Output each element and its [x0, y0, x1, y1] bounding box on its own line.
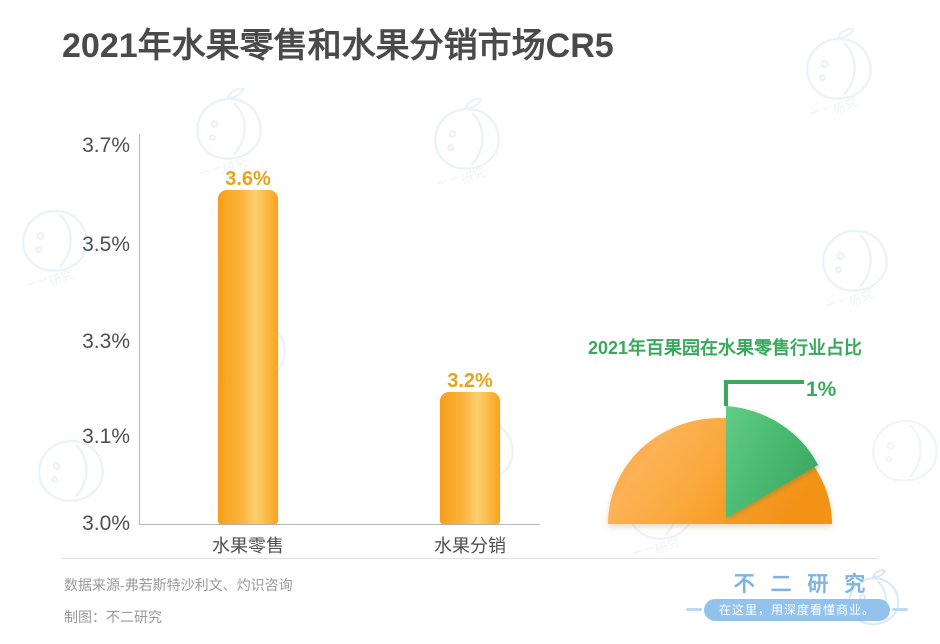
- y-axis-line: [139, 134, 140, 525]
- secondary-chart-title: 2021年百果园在水果零售行业占比: [588, 334, 862, 360]
- watermark-mark: 不二研究: [806, 210, 902, 306]
- watermark-mark: [856, 400, 940, 496]
- chart-credit-text: 制图：不二研究: [64, 607, 162, 627]
- y-tick-label: 3.7%: [50, 134, 130, 158]
- callout-value-label: 1%: [806, 378, 836, 402]
- brand-tagline: 在这里，用深度看懂商业。: [704, 599, 890, 621]
- svg-text:不二研究: 不二研究: [808, 94, 860, 114]
- logo-dash-right: [892, 608, 908, 611]
- y-tick-label: 3.0%: [50, 512, 130, 536]
- x-tick-label-fruit-distribution: 水果分销: [410, 532, 530, 558]
- chart-canvas: 不二研究 不二研究: [0, 0, 940, 644]
- bar-value-label-fruit-retail: 3.6%: [198, 168, 298, 191]
- y-axis-ticks: 3.7% 3.5% 3.3% 3.1% 3.0%: [48, 0, 130, 644]
- y-tick-label: 3.5%: [50, 233, 130, 257]
- x-tick-label-fruit-retail: 水果零售: [188, 532, 308, 558]
- bar-fruit-retail[interactable]: [218, 190, 278, 524]
- bar-fruit-distribution[interactable]: [440, 392, 500, 524]
- brand-logo: 不 二 研 究 在这里，用深度看懂商业。: [700, 568, 900, 634]
- data-source-text: 数据来源-弗若斯特沙利文、灼识咨询: [64, 575, 293, 595]
- svg-text:不二研究: 不二研究: [824, 286, 876, 306]
- svg-text:不二研究: 不二研究: [436, 164, 488, 184]
- watermark-mark: 不二研究: [180, 78, 276, 174]
- footer-divider: [62, 558, 878, 559]
- callout-leader-line: [726, 382, 802, 404]
- watermark-mark: 不二研究: [790, 18, 886, 114]
- logo-dash-left: [686, 608, 702, 611]
- y-tick-label: 3.1%: [50, 425, 130, 449]
- bar-value-label-fruit-distribution: 3.2%: [420, 370, 520, 393]
- y-tick-label: 3.3%: [50, 330, 130, 354]
- brand-name: 不 二 研 究: [722, 568, 882, 598]
- watermark-mark: 不二研究: [418, 88, 514, 184]
- chart-title: 2021年水果零售和水果分销市场CR5: [62, 18, 614, 67]
- x-axis-line: [139, 524, 540, 525]
